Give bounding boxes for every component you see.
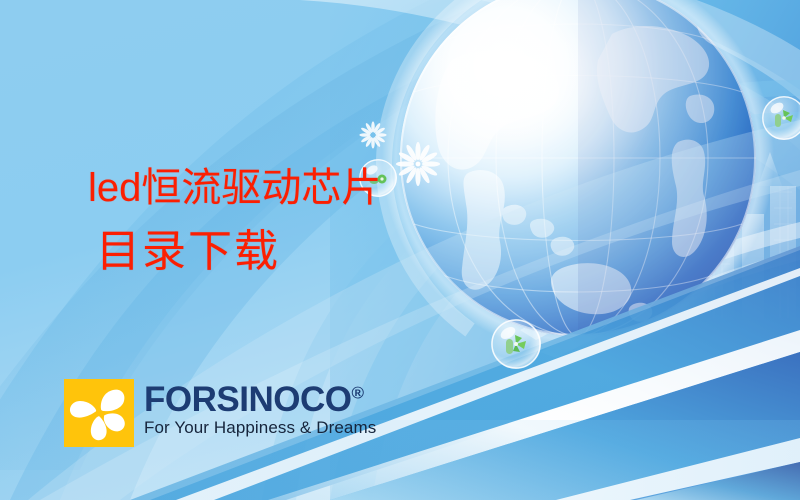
four-petal-pinwheel-icon — [64, 379, 134, 447]
headline-line-1: led恒流驱动芯片 — [88, 168, 381, 208]
registered-trademark-icon: ® — [351, 383, 363, 402]
headline-line-2: 目录下载 — [96, 230, 280, 274]
company-logo[interactable]: FORSINOCO® For Your Happiness & Dreams — [64, 379, 376, 447]
logo-tagline: For Your Happiness & Dreams — [144, 418, 376, 438]
bubble-windmill-icon — [491, 319, 541, 369]
logo-wordmark-text: FORSINOCO — [144, 380, 351, 419]
banner-image: led恒流驱动芯片 目录下载 FORSINOCO® Fo — [0, 0, 800, 500]
logo-wordmark: FORSINOCO® — [144, 383, 363, 416]
